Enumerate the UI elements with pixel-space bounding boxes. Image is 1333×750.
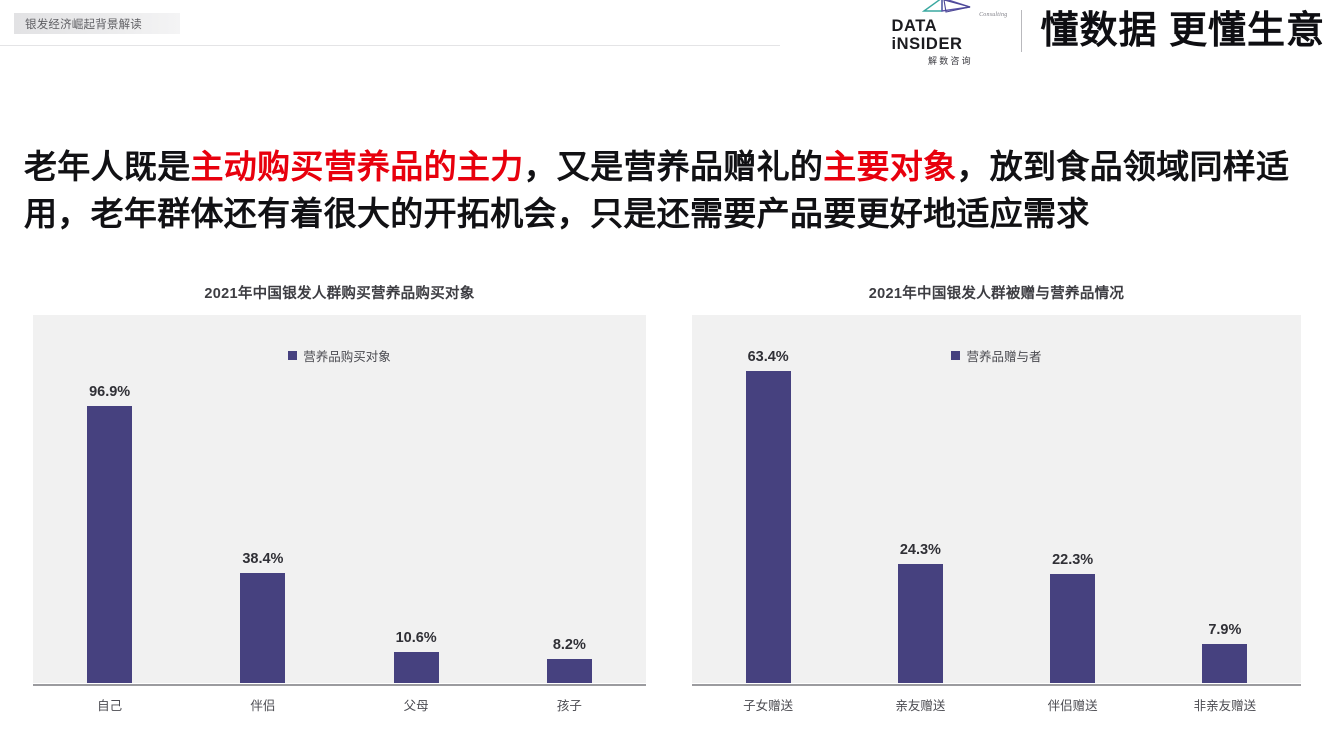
chart-left-title: 2021年中国银发人群购买营养品购买对象 (33, 282, 646, 303)
data-insider-triangles-icon (920, 0, 980, 17)
header-divider-rule (0, 45, 780, 46)
chart-left-x-axis (33, 684, 646, 686)
x-axis-tick-label: 自己 (33, 695, 186, 714)
bar-rect[interactable] (746, 371, 791, 683)
x-axis-tick-label: 伴侣赠送 (997, 695, 1149, 714)
bar-slot[interactable]: 7.9% (1149, 315, 1301, 683)
breadcrumb[interactable]: 银发经济崛起背景解读 (14, 13, 180, 34)
chart-left-x-labels: 自己 伴侣 父母 孩子 (33, 695, 646, 714)
bar-slot[interactable]: 96.9% (33, 315, 186, 683)
x-axis-tick-label: 孩子 (493, 695, 646, 714)
logo-wordmark: DATA iNSIDER (891, 18, 1009, 53)
bar-rect[interactable] (394, 652, 439, 683)
bar-rect[interactable] (240, 573, 285, 683)
bar-value-label: 22.3% (1052, 552, 1093, 568)
brand-block: Consulting DATA iNSIDER 解数咨询 懂数据 更懂生意 (891, 2, 1325, 60)
bar-slot[interactable]: 38.4% (186, 315, 339, 683)
bar-slot[interactable]: 22.3% (997, 315, 1149, 683)
bar-value-label: 96.9% (89, 384, 130, 400)
bar-slot[interactable]: 63.4% (692, 315, 844, 683)
chart-left: 2021年中国银发人群购买营养品购买对象 营养品购买对象 96.9% 38.4%… (33, 282, 646, 714)
x-axis-tick-label: 非亲友赠送 (1149, 695, 1301, 714)
chart-right-bars: 63.4% 24.3% 22.3% 7.9% (692, 315, 1301, 683)
breadcrumb-label: 银发经济崛起背景解读 (14, 16, 142, 32)
bar-rect[interactable] (898, 564, 943, 683)
bar-value-label: 63.4% (748, 349, 789, 365)
bar-rect[interactable] (1050, 574, 1095, 683)
chart-left-plot-area: 营养品购买对象 96.9% 38.4% 10.6% 8.2% (33, 315, 646, 683)
brand-vertical-divider (1021, 10, 1022, 52)
x-axis-tick-label: 伴侣 (186, 695, 339, 714)
bar-slot[interactable]: 24.3% (844, 315, 996, 683)
chart-left-bars: 96.9% 38.4% 10.6% 8.2% (33, 315, 646, 683)
bar-value-label: 8.2% (553, 637, 586, 653)
headline-segment-2: ，又是营养品赠礼的 (524, 148, 824, 185)
chart-right-x-axis (692, 684, 1301, 686)
chart-right-title: 2021年中国银发人群被赠与营养品情况 (692, 282, 1301, 303)
page-title: 老年人既是主动购买营养品的主力，又是营养品赠礼的主要对象，放到食品领域同样适用，… (24, 144, 1314, 238)
headline-segment-1: 老年人既是 (24, 148, 191, 185)
bar-value-label: 38.4% (242, 551, 283, 567)
x-axis-tick-label: 子女赠送 (692, 695, 844, 714)
bar-slot[interactable]: 10.6% (340, 315, 493, 683)
logo-chinese-name: 解数咨询 (928, 54, 973, 67)
chart-right-plot-area: 营养品赠与者 63.4% 24.3% 22.3% 7.9% (692, 315, 1301, 683)
data-insider-logo: Consulting DATA iNSIDER 解数咨询 (891, 0, 1009, 67)
headline-highlight-2: 主要对象 (823, 148, 956, 185)
chart-right-x-labels: 子女赠送 亲友赠送 伴侣赠送 非亲友赠送 (692, 695, 1301, 714)
logo-script-text: Consulting (979, 12, 1007, 18)
bar-rect[interactable] (1202, 644, 1247, 683)
bar-rect[interactable] (87, 406, 132, 683)
x-axis-tick-label: 父母 (340, 695, 493, 714)
bar-rect[interactable] (547, 659, 592, 683)
bar-value-label: 7.9% (1208, 622, 1241, 638)
chart-right: 2021年中国银发人群被赠与营养品情况 营养品赠与者 63.4% 24.3% 2… (692, 282, 1301, 714)
headline-highlight-1: 主动购买营养品的主力 (191, 148, 524, 185)
bar-value-label: 24.3% (900, 542, 941, 558)
bar-slot[interactable]: 8.2% (493, 315, 646, 683)
brand-slogan: 懂数据 更懂生意 (1040, 12, 1325, 50)
x-axis-tick-label: 亲友赠送 (844, 695, 996, 714)
top-bar: 银发经济崛起背景解读 Consulting DATA iNSIDER 解数咨询 … (0, 0, 1333, 62)
bar-value-label: 10.6% (396, 630, 437, 646)
